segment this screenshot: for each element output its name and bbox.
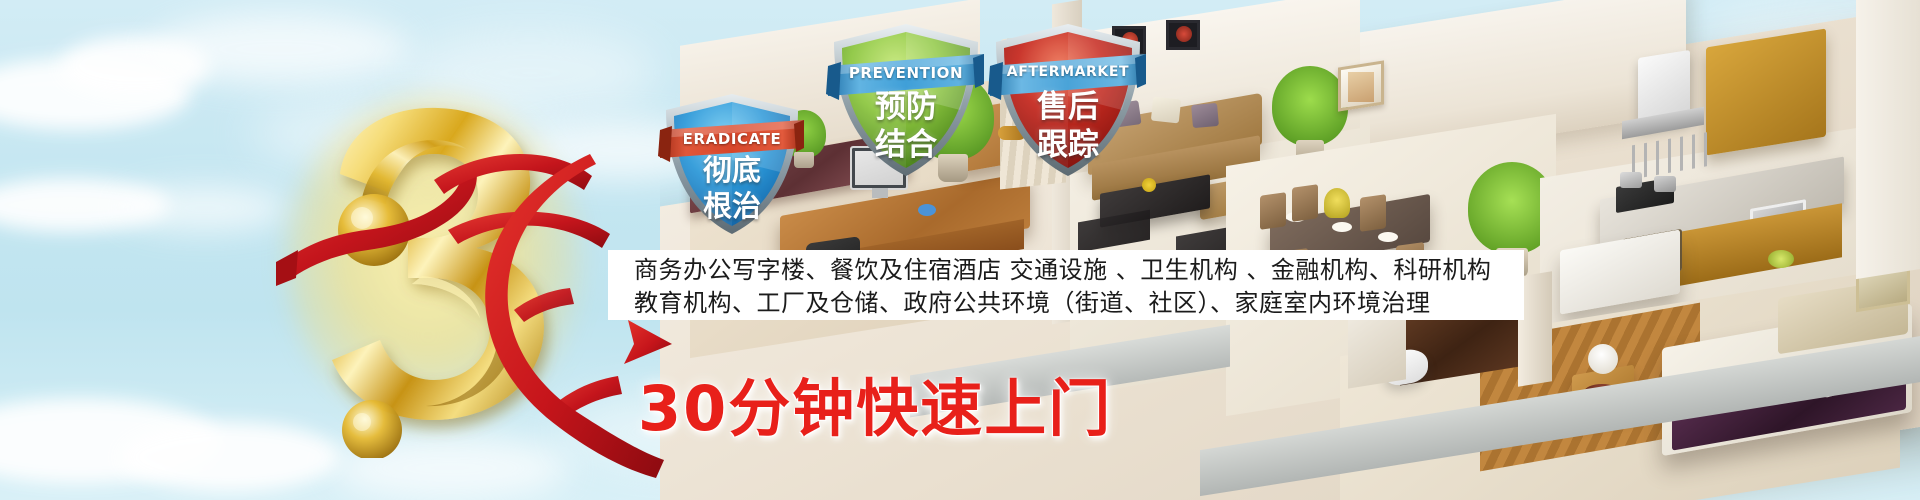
shield-chinese-label: 售后跟踪 (988, 92, 1148, 161)
study-monitor-stand (872, 188, 888, 198)
promo-banner: ERADICATE 彻底根治 (0, 0, 1920, 500)
service-scope-line-1: 商务办公写字楼、餐饮及住宿酒店 交通设施 、卫生机构 、金融机构、科研机构 (634, 254, 1524, 287)
study-mouse (918, 204, 936, 216)
kitchen-pot-1 (1620, 172, 1642, 188)
kitchen-upper-cabinet (1706, 28, 1826, 155)
dining-chair-1 (1260, 192, 1286, 230)
shield-english-label: ERADICATE (658, 130, 806, 148)
dining-chair-2 (1292, 184, 1318, 222)
wall-art-2-detail (1176, 26, 1192, 42)
shield-prevention: PREVENTION 预防结合 (826, 20, 986, 180)
exterior-wall-right (1856, 0, 1920, 279)
bedroom-table-lamp (1588, 344, 1618, 374)
headline-30-minute-service: 30分钟快速上门 (638, 358, 1112, 448)
service-scope-line-2: 教育机构、工厂及仓储、政府公共环境（街道、社区）、家庭室内环境治理 (634, 287, 1524, 320)
dining-centerpiece (1324, 188, 1350, 218)
kitchen-fruit-bowl (1768, 250, 1794, 268)
kitchen-pot-2 (1654, 176, 1676, 192)
shield-aftermarket: AFTERMARKET 售后跟踪 (988, 20, 1148, 180)
service-scope-panel: 商务办公写字楼、餐饮及住宿酒店 交通设施 、卫生机构 、金融机构、科研机构 教育… (608, 250, 1524, 320)
living-room-plant (1272, 66, 1348, 146)
dining-chair-3 (1360, 194, 1386, 232)
sofa-cushion-3 (1191, 103, 1219, 128)
shield-english-label: PREVENTION (826, 64, 986, 82)
dining-table-setting-3 (1378, 232, 1398, 242)
coffee-table-flowers (1142, 178, 1156, 192)
shield-english-label: AFTERMARKET (988, 64, 1148, 80)
dining-table-setting-2 (1332, 222, 1352, 232)
shield-chinese-label: 预防结合 (826, 92, 986, 161)
sofa-cushion-2 (1151, 97, 1181, 124)
dining-wall-picture-art (1348, 72, 1374, 102)
